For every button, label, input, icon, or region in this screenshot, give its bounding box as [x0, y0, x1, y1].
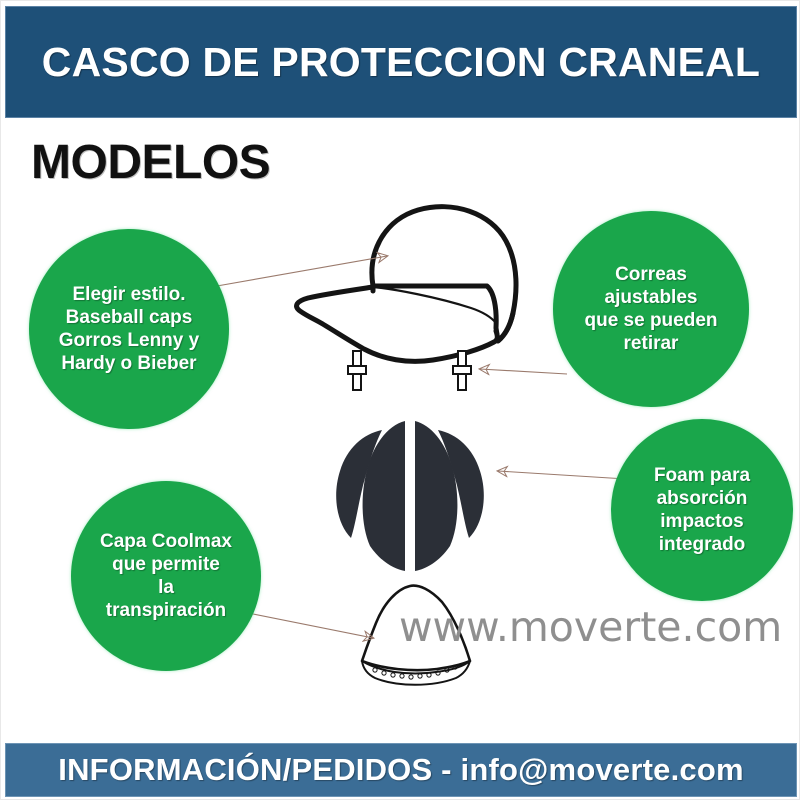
callout-bubble-foam[interactable]: Foam para absorción impactos integrado [611, 419, 793, 601]
callout-bubble-coolmax[interactable]: Capa Coolmax que permite la transpiració… [71, 481, 261, 671]
callout-line: Foam para [654, 464, 750, 487]
page-title: CASCO DE PROTECCION CRANEAL [42, 39, 760, 86]
callout-line: Gorros Lenny y [59, 329, 199, 352]
footer-contact-text: INFORMACIÓN/PEDIDOS - info@moverte.com [58, 752, 743, 788]
callout-line: la [100, 576, 232, 599]
callout-line: integrado [654, 533, 750, 556]
callout-line: Hardy o Bieber [59, 352, 199, 375]
callout-line: retirar [584, 332, 717, 355]
callout-line: que se pueden [584, 309, 717, 332]
callout-line: absorción [654, 487, 750, 510]
callout-line: que permite [100, 553, 232, 576]
connector-style-to-cap [217, 256, 387, 286]
section-title: MODELOS [31, 135, 270, 190]
adjustable-strap-icons [348, 351, 471, 390]
callout-bubble-straps[interactable]: Correas ajustables que se pueden retirar [553, 211, 749, 407]
header-banner: CASCO DE PROTECCION CRANEAL [5, 6, 797, 118]
footer-banner: INFORMACIÓN/PEDIDOS - info@moverte.com [5, 743, 797, 797]
callout-line: Capa Coolmax [100, 530, 232, 553]
callout-line: Baseball caps [59, 306, 199, 329]
callout-line: Correas [584, 263, 717, 286]
watermark-url: www.moverte.com [399, 603, 782, 651]
foam-dome-illustration [336, 421, 484, 571]
connector-straps-to-strapicon [480, 369, 567, 374]
callout-line: Elegir estilo. [59, 283, 199, 306]
callout-line: impactos [654, 510, 750, 533]
connector-coolmax-to-liner [253, 614, 373, 638]
callout-bubble-style[interactable]: Elegir estilo. Baseball caps Gorros Lenn… [29, 229, 229, 429]
infographic-page: CASCO DE PROTECCION CRANEAL MODELOS [0, 0, 800, 800]
baseball-cap-illustration [297, 207, 517, 362]
callout-line: transpiración [100, 599, 232, 622]
connector-foam-to-dome [498, 471, 626, 479]
callout-line: ajustables [584, 286, 717, 309]
